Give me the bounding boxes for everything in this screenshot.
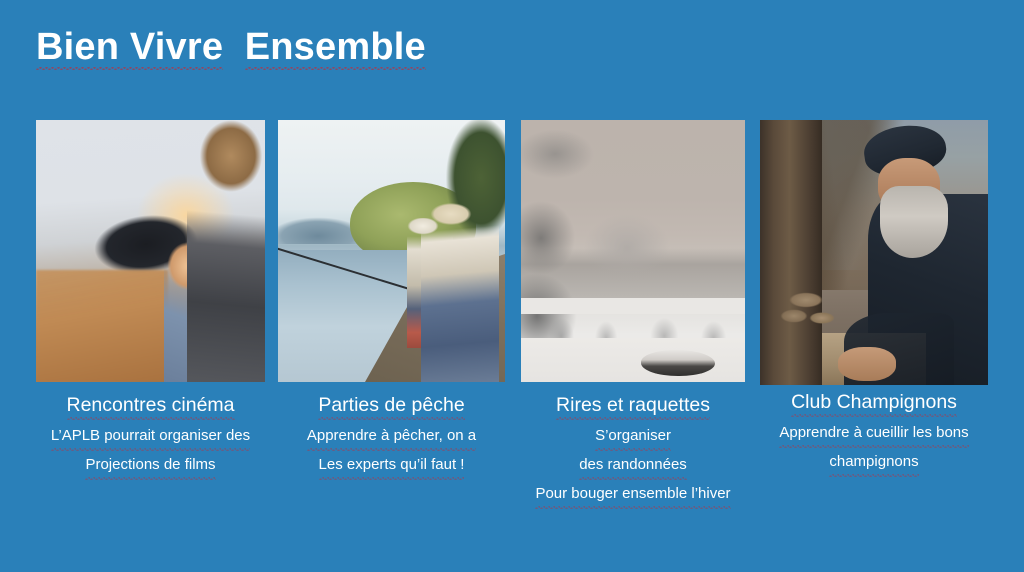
photo-rires-et-raquettes <box>521 120 745 382</box>
caption-line: champignons <box>730 447 1018 476</box>
photo-mushrooms <box>780 290 846 332</box>
photo-club-champignons <box>760 120 988 385</box>
photo-rencontres-cinema <box>36 120 265 382</box>
caption-heading-text: Parties de pêche <box>318 392 464 419</box>
caption-line-text: L’APLB pourrait organiser des <box>51 421 250 450</box>
caption-line-text: Apprendre à pêcher, on a <box>307 421 476 450</box>
slide-bien-vivre-ensemble: Bien Vivre Ensemble Rencontres cinéma L’… <box>0 0 1024 572</box>
photo-snowy-rock <box>641 350 715 376</box>
caption-line-text: champignons <box>829 447 918 476</box>
photo-figure-left <box>36 270 168 382</box>
caption-line-text: des randonnées <box>579 450 687 479</box>
photo-tree-trunk <box>760 120 822 385</box>
caption-club-champignons: Club Champignons Apprendre à cueillir le… <box>730 389 1018 476</box>
caption-heading: Club Champignons <box>730 389 1018 416</box>
caption-heading-text: Club Champignons <box>791 389 957 416</box>
caption-line: Apprendre à cueillir les bons <box>730 418 1018 447</box>
column-club-champignons: Club Champignons Apprendre à cueillir le… <box>760 120 988 385</box>
caption-line: Pour bouger ensemble l’hiver <box>491 479 775 508</box>
caption-line-text: Pour bouger ensemble l’hiver <box>535 479 730 508</box>
caption-heading-text: Rires et raquettes <box>556 392 710 419</box>
column-rencontres-cinema: Rencontres cinéma L’APLB pourrait organi… <box>36 120 265 382</box>
caption-line-text: Apprendre à cueillir les bons <box>779 418 968 447</box>
content-columns: Rencontres cinéma L’APLB pourrait organi… <box>0 0 1024 572</box>
photo-hand <box>838 347 896 381</box>
caption-heading-text: Rencontres cinéma <box>67 392 235 419</box>
caption-line-text: S’organiser <box>595 421 671 450</box>
caption-line-text: Projections de films <box>85 450 215 479</box>
caption-line-text: Les experts qu’il faut ! <box>319 450 465 479</box>
column-parties-de-peche: Parties de pêche Apprendre à pêcher, on … <box>278 120 505 382</box>
photo-parties-de-peche <box>278 120 505 382</box>
column-rires-et-raquettes: Rires et raquettes S’organiser des rando… <box>521 120 745 382</box>
photo-adult-angler <box>421 202 499 382</box>
photo-figure-middle <box>164 240 244 382</box>
